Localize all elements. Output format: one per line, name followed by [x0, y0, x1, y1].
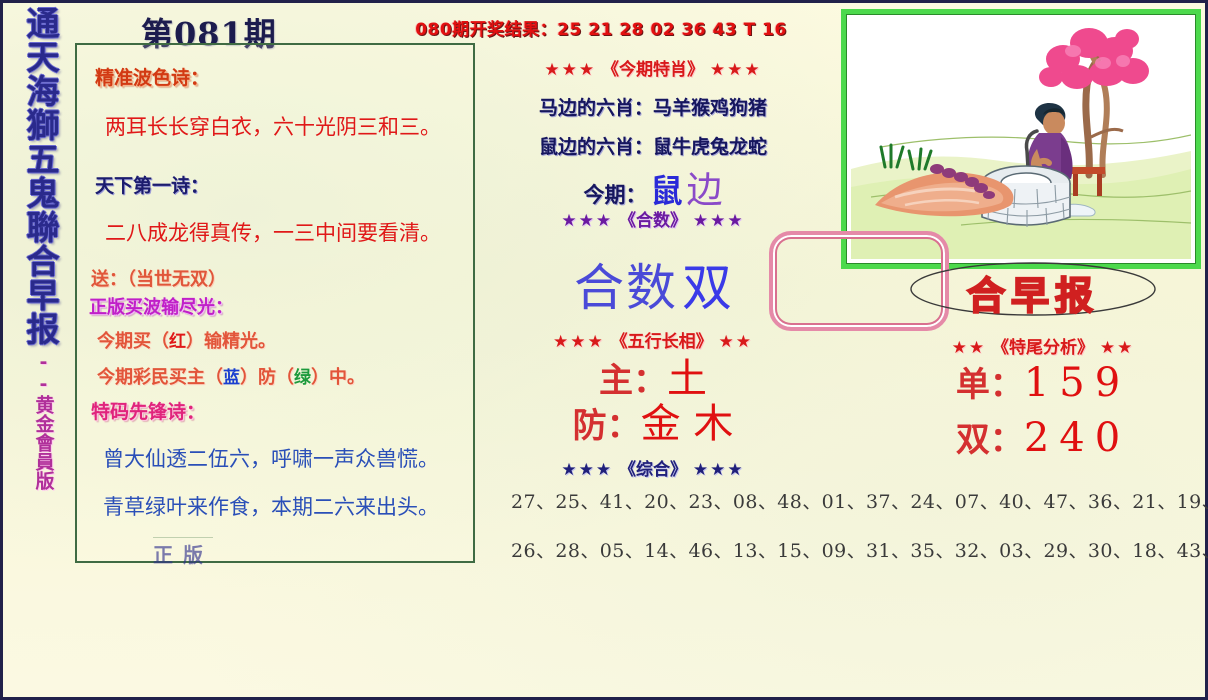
stars-right: ★★★: [710, 60, 762, 80]
jinqi-value-b: 边: [687, 170, 723, 211]
fang-value: 金 木: [641, 401, 734, 447]
section-title-text: 《合数》: [619, 211, 687, 231]
fang-line-post: ）中。: [311, 367, 365, 388]
tewei-values: 单：159 双：240: [883, 331, 1203, 461]
section-jinqi-texiao: ★★★ 《今期特肖》 ★★★: [483, 55, 823, 80]
masthead-char: 五: [27, 143, 60, 177]
dan-label: 单：: [956, 365, 1024, 405]
masthead-char: 鬼: [27, 177, 60, 211]
faded-bottom-text: 正版: [153, 537, 213, 568]
illustration: [851, 19, 1191, 259]
section-hesu: ★★★ 《合数》 ★★★: [483, 206, 823, 231]
zhu-label: 主：: [599, 361, 667, 401]
fang-line-pre: 今期彩民买主（: [97, 367, 223, 388]
fang-line-token-blue: 蓝: [223, 368, 240, 387]
shuang-label: 双：: [956, 420, 1024, 460]
number-list: 27、25、41、20、23、08、48、01、37、24、07、40、47、3…: [511, 487, 1201, 585]
newspaper-page: 通 天 海 獅 五 鬼 聯 合 早 报 --黄金會員版 第081期 080期开奖…: [0, 0, 1208, 700]
jinqi-value-a: 鼠: [650, 172, 682, 210]
buy-color-line: 今期买（红）输精光。: [97, 327, 276, 353]
zhu-value: 土: [667, 356, 707, 402]
poem-tianxia: 二八成龙得真传，一三中间要看清。: [105, 217, 441, 247]
buy-line-post: ）输精光。: [186, 331, 276, 352]
section-wuxing: ★★★ 《五行长相》 ★★: [483, 327, 823, 352]
section-title-text: 《五行长相》: [611, 332, 713, 352]
masthead-subtitle: --黄金會員版: [34, 351, 53, 490]
zodiac-shu-line: 鼠边的六肖：鼠牛虎兔龙蛇: [483, 132, 823, 159]
section-zonghe: ★★★ 《综合》 ★★★: [483, 455, 823, 480]
buy-line-token-red: 红: [169, 332, 186, 351]
song-label: 送：（当世无双）: [91, 265, 226, 291]
poem-panel: 精准波色诗： 两耳长长穿白衣，六十光阴三和三。 天下第一诗： 二八成龙得真传，一…: [75, 43, 475, 563]
stars-right: ★★★: [693, 211, 745, 231]
masthead-char: 海: [27, 75, 60, 109]
hesu-label: 合数: [574, 259, 678, 317]
masthead-char: 合: [27, 245, 60, 279]
poem-bocai: 两耳长长穿白衣，六十光阴三和三。: [105, 111, 441, 141]
zhengban-label: 正版买波输尽光：: [89, 293, 233, 319]
stars-left: ★★★: [553, 332, 605, 352]
shuang-row: 双：240: [883, 412, 1203, 461]
draw-result-bar: 080期开奖结果：25 21 28 02 36 43 T 16: [401, 15, 801, 40]
fang-label: 防：: [573, 406, 641, 446]
section-title-text: 《今期特肖》: [602, 60, 704, 80]
jinqi-label: 今期：: [583, 183, 646, 207]
masthead-vertical-title: 通 天 海 獅 五 鬼 聯 合 早 报 --黄金會員版: [17, 7, 69, 607]
fang-line-token-green: 绿: [294, 368, 311, 387]
wuxing-values: 主：土 防：金 木: [483, 359, 823, 445]
stars-left: ★★★: [544, 60, 596, 80]
number-row: 26、28、05、14、46、13、15、09、31、35、32、03、29、3…: [511, 536, 1201, 563]
stars-right: ★★★: [693, 460, 745, 480]
zhu-row: 主：土: [483, 359, 823, 400]
stars-left: ★★★: [561, 460, 613, 480]
dan-row: 单：159: [883, 357, 1203, 406]
number-row: 27、25、41、20、23、08、48、01、37、24、07、40、47、3…: [511, 487, 1201, 514]
zaobao-stamp-text: 合早报: [908, 265, 1158, 320]
buy-line-pre: 今期买（: [97, 331, 169, 352]
stars-left: ★★★: [561, 211, 613, 231]
heading-bocai: 精准波色诗：: [95, 63, 209, 90]
poem-teima-2: 青草绿叶来作食，本期二六来出头。: [103, 491, 439, 521]
hesu-value: 双: [682, 259, 732, 317]
masthead-char: 天: [27, 41, 60, 75]
heading-tianxia: 天下第一诗：: [95, 171, 209, 198]
heading-teima: 特码先锋诗：: [91, 397, 205, 424]
fang-row: 防：金 木: [483, 404, 823, 445]
stars-right: ★★: [719, 332, 753, 352]
zaobao-stamp: 合早报: [908, 261, 1158, 317]
shuang-value: 240: [1024, 415, 1130, 461]
masthead-char: 聯: [27, 211, 60, 245]
illustration-svg: [851, 19, 1191, 259]
masthead-char: 通: [27, 7, 60, 41]
poem-teima-1: 曾大仙透二伍六，呼啸一声众兽慌。: [103, 443, 439, 473]
fang-color-line: 今期彩民买主（蓝）防（绿）中。: [97, 363, 365, 389]
zodiac-ma-line: 马边的六肖：马羊猴鸡狗猪: [483, 93, 823, 120]
section-title-text: 《综合》: [619, 460, 687, 480]
masthead-char: 獅: [27, 109, 60, 143]
dan-value: 159: [1024, 360, 1130, 406]
masthead-char: 早: [27, 279, 60, 313]
masthead-char: 报: [27, 313, 60, 347]
fang-line-mid: ）防（: [240, 367, 294, 388]
